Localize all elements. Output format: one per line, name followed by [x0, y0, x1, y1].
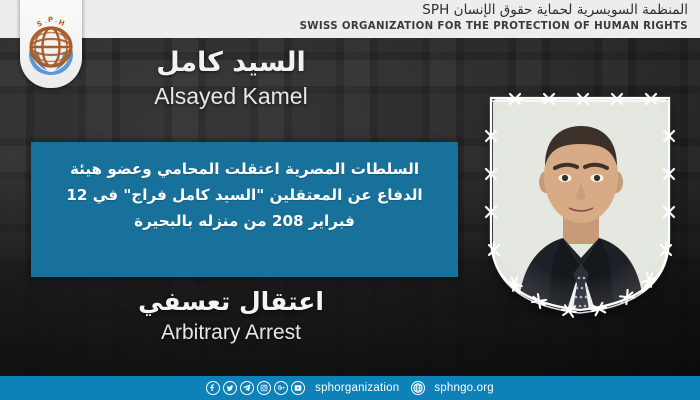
portrait-photo-image — [493, 98, 669, 310]
telegram-icon[interactable] — [240, 381, 254, 395]
sph-globe-logo-icon: S . P . H — [23, 15, 79, 77]
case-statement-text: السلطات المصرية اعتقلت المحامي وعضو هيئة… — [53, 156, 436, 234]
footer-content: sphorganization sphngo.org — [206, 381, 494, 395]
charge-label-english: Arbitrary Arrest — [0, 319, 462, 347]
page-footer: sphorganization sphngo.org — [0, 376, 700, 400]
instagram-icon[interactable] — [257, 381, 271, 395]
organization-name-english: SWISS ORGANIZATION FOR THE PROTECTION OF… — [300, 20, 688, 34]
organization-title-block: المنظمة السويسرية لحماية حقوق الإنسان SP… — [300, 1, 688, 34]
charge-block: اعتقال تعسفي Arbitrary Arrest — [0, 285, 462, 347]
detainee-portrait — [481, 88, 679, 320]
svg-text:H: H — [57, 18, 65, 28]
svg-text:P: P — [48, 16, 53, 24]
organization-name-arabic: المنظمة السويسرية لحماية حقوق الإنسان SP… — [300, 1, 688, 20]
google-plus-icon[interactable] — [274, 381, 288, 395]
youtube-icon[interactable] — [291, 381, 305, 395]
social-handle-label[interactable]: sphorganization — [315, 382, 399, 394]
svg-text:.: . — [44, 19, 47, 25]
sph-logo-plaque: S . P . H — [20, 0, 82, 88]
page-header: المنظمة السويسرية لحماية حقوق الإنسان SP… — [0, 0, 700, 38]
case-statement-box: السلطات المصرية اعتقلت المحامي وعضو هيئة… — [31, 142, 458, 277]
social-links — [206, 381, 305, 395]
portrait-illustration — [493, 98, 669, 310]
twitter-icon[interactable] — [223, 381, 237, 395]
svg-text:.: . — [55, 18, 58, 24]
detainee-name-english: Alsayed Kamel — [0, 81, 462, 111]
website-globe-icon — [411, 381, 425, 395]
website-url-label[interactable]: sphngo.org — [434, 382, 494, 394]
human-rights-poster-card: المنظمة السويسرية لحماية حقوق الإنسان SP… — [0, 0, 700, 400]
charge-label-arabic: اعتقال تعسفي — [0, 285, 462, 318]
svg-text:S: S — [36, 20, 44, 29]
facebook-icon[interactable] — [206, 381, 220, 395]
